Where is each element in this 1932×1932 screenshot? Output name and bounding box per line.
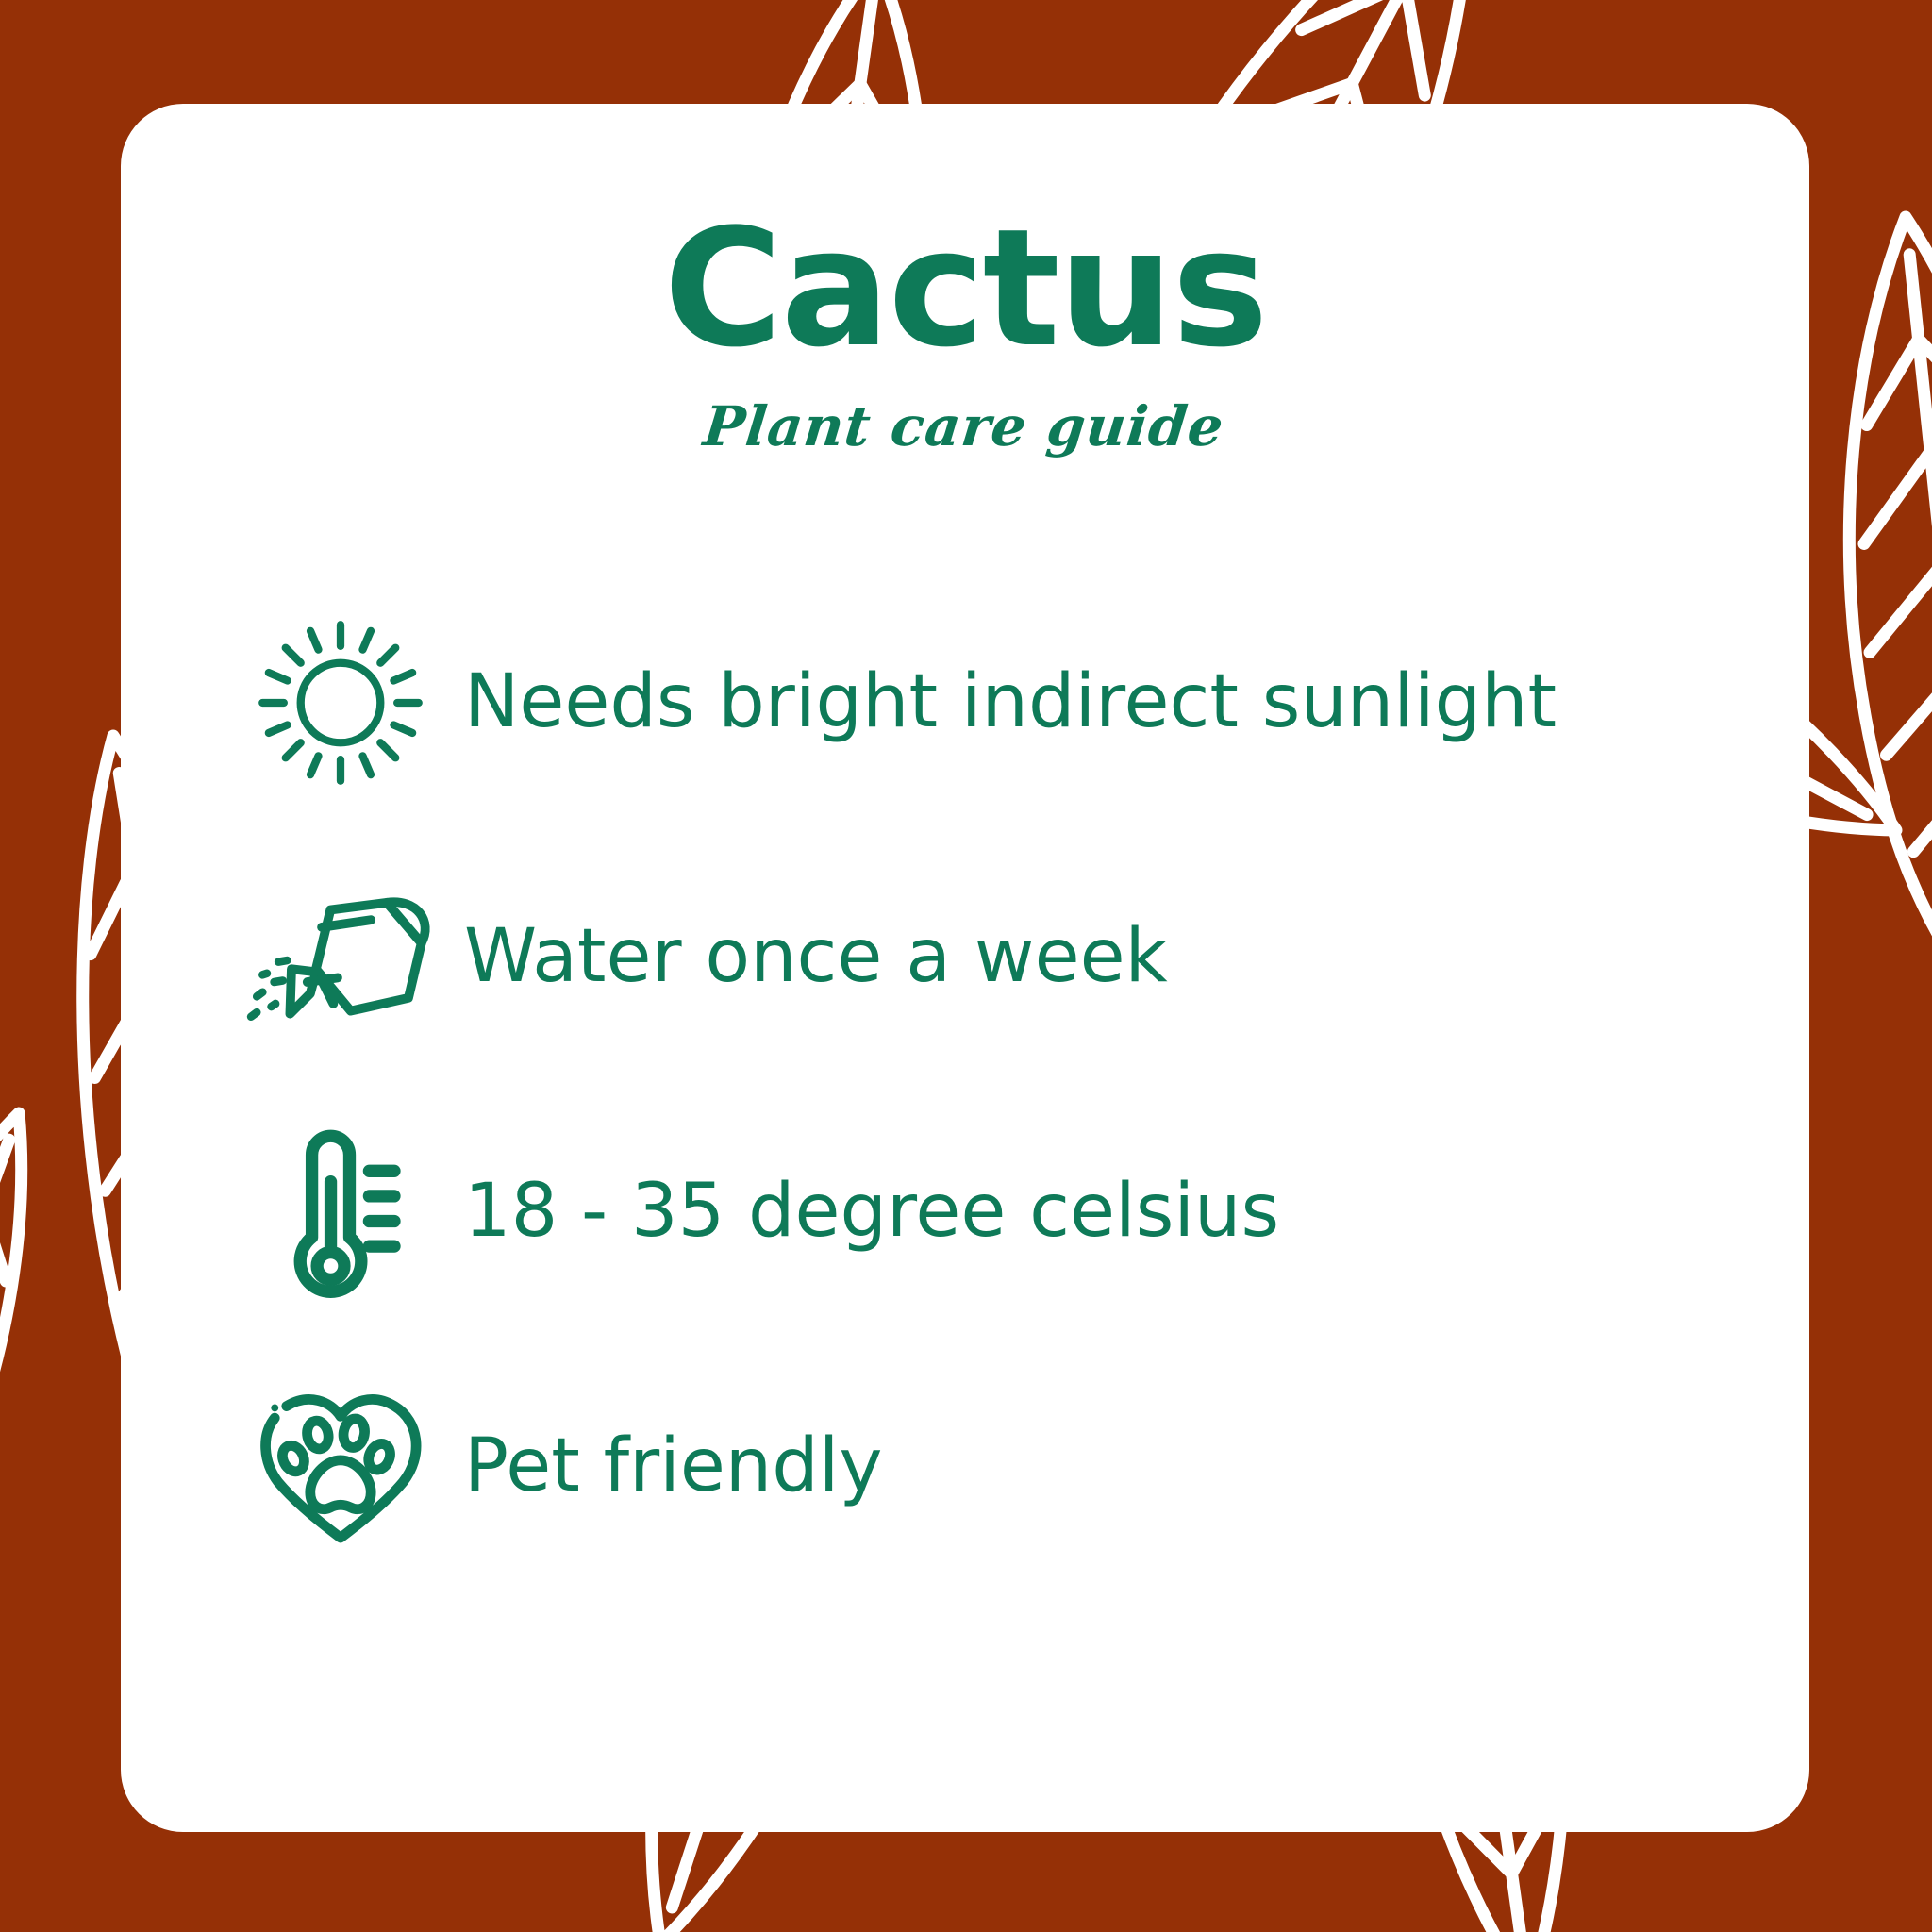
thermometer-icon bbox=[241, 1123, 440, 1302]
feature-label-sunlight: Needs bright indirect sunlight bbox=[464, 662, 1557, 743]
leaf-left-lower bbox=[0, 1090, 83, 1704]
page-subtitle: Plant care guide bbox=[121, 370, 1809, 458]
leaf-right-edge bbox=[1811, 207, 1932, 1014]
feature-label-pet-friendly: Pet friendly bbox=[464, 1426, 883, 1507]
watering-can-icon bbox=[241, 887, 440, 1028]
feature-label-temperature: 18 - 35 degree celsius bbox=[464, 1172, 1279, 1253]
sun-icon bbox=[241, 614, 440, 791]
care-feature-list: Needs bright indirect sunlight bbox=[121, 575, 1809, 1594]
page-title: Cactus bbox=[121, 104, 1809, 370]
poster-header: Cactus Plant care guide bbox=[121, 104, 1809, 458]
feature-label-watering: Water once a week bbox=[464, 917, 1168, 998]
heart-paw-icon bbox=[241, 1386, 440, 1548]
feature-row-temperature: 18 - 35 degree celsius bbox=[121, 1085, 1809, 1340]
content-card: Cactus Plant care guide bbox=[121, 104, 1809, 1832]
feature-row-pet-friendly: Pet friendly bbox=[121, 1340, 1809, 1594]
feature-row-sunlight: Needs bright indirect sunlight bbox=[121, 575, 1809, 830]
plant-care-poster: Cactus Plant care guide bbox=[0, 0, 1932, 1932]
feature-row-watering: Water once a week bbox=[121, 830, 1809, 1085]
